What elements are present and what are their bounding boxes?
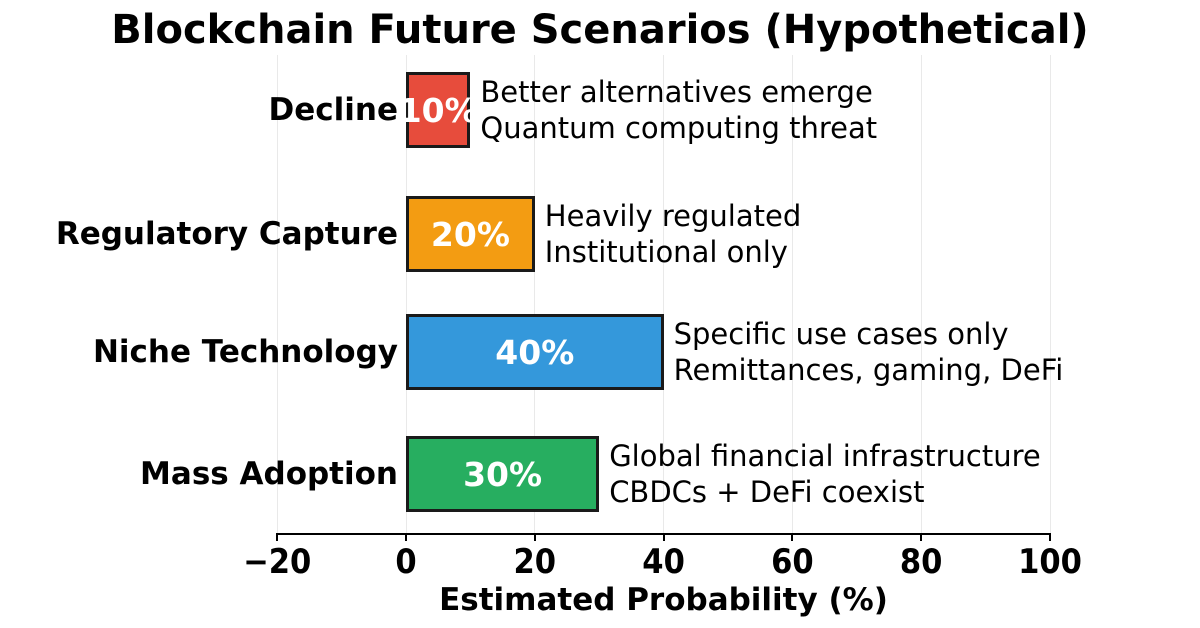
x-tick-label: 100 — [990, 541, 1110, 583]
category-label: Regulatory Capture — [56, 215, 398, 253]
x-tick-label: 40 — [604, 541, 724, 583]
bar-annotation: Heavily regulatedInstitutional only — [545, 198, 801, 270]
x-tick-mark — [534, 533, 536, 541]
annotation-line: CBDCs + DeFi coexist — [609, 474, 1041, 510]
annotation-line: Global financial infrastructure — [609, 438, 1041, 474]
x-tick-mark — [920, 533, 922, 541]
annotation-line: Specific use cases only — [674, 316, 1064, 352]
category-label: Mass Adoption — [140, 455, 398, 493]
annotation-line: Institutional only — [545, 234, 801, 270]
x-axis-label: Estimated Probability (%) — [277, 580, 1050, 620]
bar[interactable] — [406, 72, 470, 148]
x-tick-mark — [276, 533, 278, 541]
gridline — [1050, 55, 1051, 533]
bar[interactable] — [406, 436, 599, 512]
annotation-line: Heavily regulated — [545, 198, 801, 234]
x-tick-label: 60 — [732, 541, 852, 583]
x-tick-label: 0 — [346, 541, 466, 583]
category-label: Niche Technology — [93, 333, 398, 371]
bar-annotation: Global financial infrastructureCBDCs + D… — [609, 438, 1041, 510]
x-tick-label: 80 — [861, 541, 981, 583]
annotation-line: Quantum computing threat — [480, 110, 877, 146]
x-tick-mark — [1049, 533, 1051, 541]
bar-annotation: Specific use cases onlyRemittances, gami… — [674, 316, 1064, 388]
x-tick-mark — [663, 533, 665, 541]
chart-figure: Blockchain Future Scenarios (Hypothetica… — [0, 0, 1200, 628]
bar[interactable] — [406, 196, 535, 272]
x-tick-mark — [791, 533, 793, 541]
x-tick-label: 20 — [475, 541, 595, 583]
x-tick-label: −20 — [217, 541, 337, 583]
annotation-line: Remittances, gaming, DeFi — [674, 352, 1064, 388]
plot-area: 10%DeclineBetter alternatives emergeQuan… — [0, 0, 1200, 628]
bar[interactable] — [406, 314, 664, 390]
annotation-line: Better alternatives emerge — [480, 74, 877, 110]
category-label: Decline — [269, 91, 398, 129]
x-tick-mark — [405, 533, 407, 541]
bar-annotation: Better alternatives emergeQuantum comput… — [480, 74, 877, 146]
